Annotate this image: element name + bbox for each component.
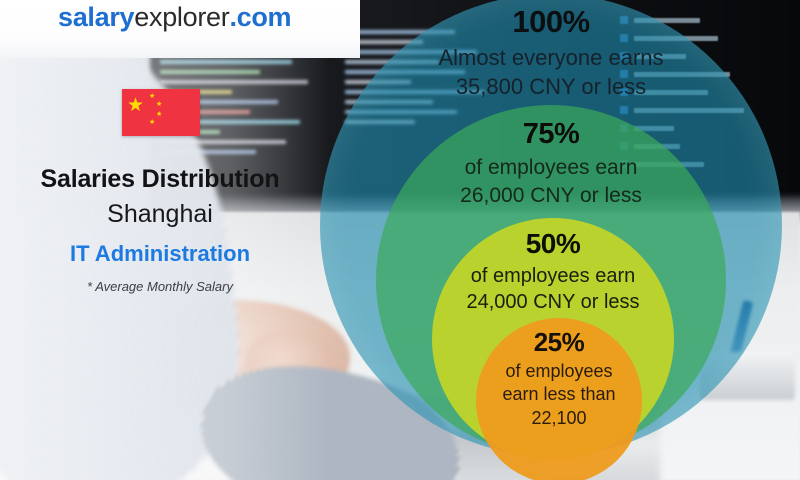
percentile-25-line3: 22,100 [476, 407, 642, 430]
percentile-50-line1: of employees earn [424, 263, 682, 289]
percentile-25-value: 25% [476, 326, 642, 360]
percentile-25-line2: earn less than [476, 383, 642, 406]
flag-star-large: ★ [127, 96, 144, 115]
job-title-label: IT Administration [0, 237, 320, 270]
footnote: * Average Monthly Salary [0, 279, 320, 294]
percentile-50-line2: 24,000 CNY or less [424, 289, 682, 315]
percentile-75-text: 75% of employees earn 26,000 CNY or less [376, 115, 726, 210]
percentile-100-text: 100% Almost everyone earns 35,800 CNY or… [320, 2, 782, 101]
flag-star-small-2: ★ [156, 101, 162, 108]
logo-part-salary: salary [58, 2, 134, 32]
percentile-50-text: 50% of employees earn 24,000 CNY or less [424, 226, 682, 316]
infographic-root: salaryexplorer.com ★ ★ ★ ★ ★ Salaries Di… [0, 0, 800, 480]
city-label: Shanghai [0, 196, 320, 234]
logo-part-com: .com [229, 2, 291, 32]
percentile-100-value: 100% [320, 2, 782, 43]
logo-part-explorer: explorer [134, 2, 229, 32]
percentile-75-line1: of employees earn [376, 154, 726, 182]
percentile-bubble-25: 25% of employees earn less than 22,100 [476, 318, 642, 480]
flag-star-small-4: ★ [149, 119, 155, 126]
site-logo[interactable]: salaryexplorer.com [58, 2, 291, 33]
page-title: Salaries Distribution [0, 165, 320, 194]
percentile-75-line2: 26,000 CNY or less [376, 182, 726, 210]
percentile-100-line2: 35,800 CNY or less [320, 72, 782, 101]
percentile-75-value: 75% [376, 115, 726, 154]
percentile-25-line1: of employees [476, 360, 642, 383]
percentile-25-text: 25% of employees earn less than 22,100 [476, 326, 642, 430]
percentile-50-value: 50% [424, 226, 682, 263]
caption-block: Salaries Distribution Shanghai IT Admini… [0, 165, 320, 294]
percentile-100-line1: Almost everyone earns [320, 43, 782, 72]
china-flag: ★ ★ ★ ★ ★ [122, 89, 200, 136]
flag-star-small-1: ★ [149, 93, 155, 100]
flag-star-small-3: ★ [156, 111, 162, 118]
